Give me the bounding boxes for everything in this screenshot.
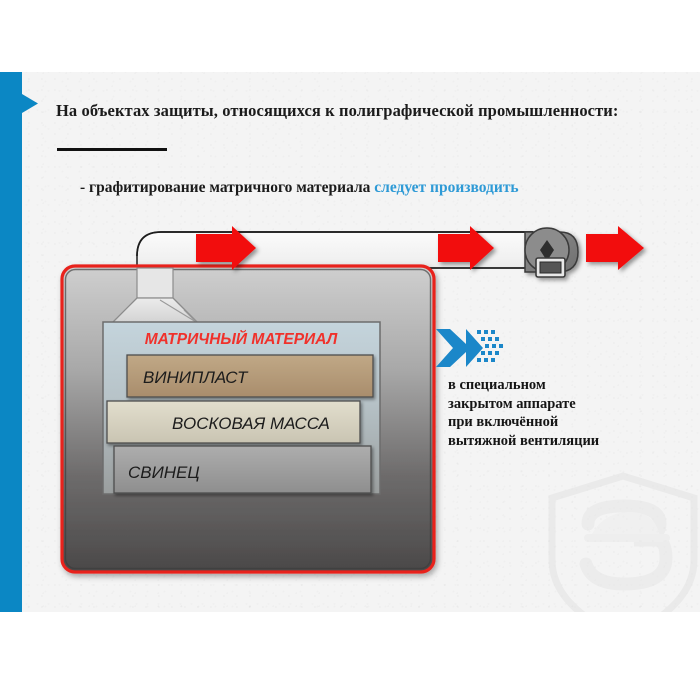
caption-line-2: закрытом аппарате [448, 395, 688, 414]
caption-line-3: при включённой [448, 413, 688, 432]
slide-canvas: На объектах защиты, относящихся к полигр… [0, 0, 700, 700]
caption-line-4: вытяжной вентиляции [448, 432, 688, 451]
layer-vinyl: ВИНИПЛАСТ [127, 355, 373, 397]
layer-wax-label: ВОСКОВАЯ МАССА [172, 414, 330, 433]
layer-lead: СВИНЕЦ [114, 446, 371, 493]
flow-arrow-3 [586, 226, 644, 270]
bullet-text: - графитирование матричного материала сл… [80, 179, 519, 197]
layer-wax: ВОСКОВАЯ МАССА [107, 401, 360, 443]
chevron-left-dots-icon [436, 327, 514, 369]
title-underline [57, 148, 167, 151]
layer-vinyl-label: ВИНИПЛАСТ [143, 368, 249, 387]
bullet-text-highlight: следует производить [374, 179, 518, 196]
letterbox-top [0, 0, 700, 72]
caption-text: в специальном закрытом аппарате при вклю… [448, 376, 688, 450]
page-title: На объектах защиты, относящихся к полигр… [56, 99, 636, 122]
exhaust-blower-icon [525, 228, 578, 277]
caption-line-1: в специальном [448, 376, 688, 395]
bullet-text-plain: - графитирование матричного материала [80, 179, 374, 196]
letterbox-bottom [0, 612, 700, 700]
material-stack-title: МАТРИЧНЫЙ МАТЕРИАЛ [145, 330, 338, 348]
layer-lead-label: СВИНЕЦ [128, 463, 200, 482]
